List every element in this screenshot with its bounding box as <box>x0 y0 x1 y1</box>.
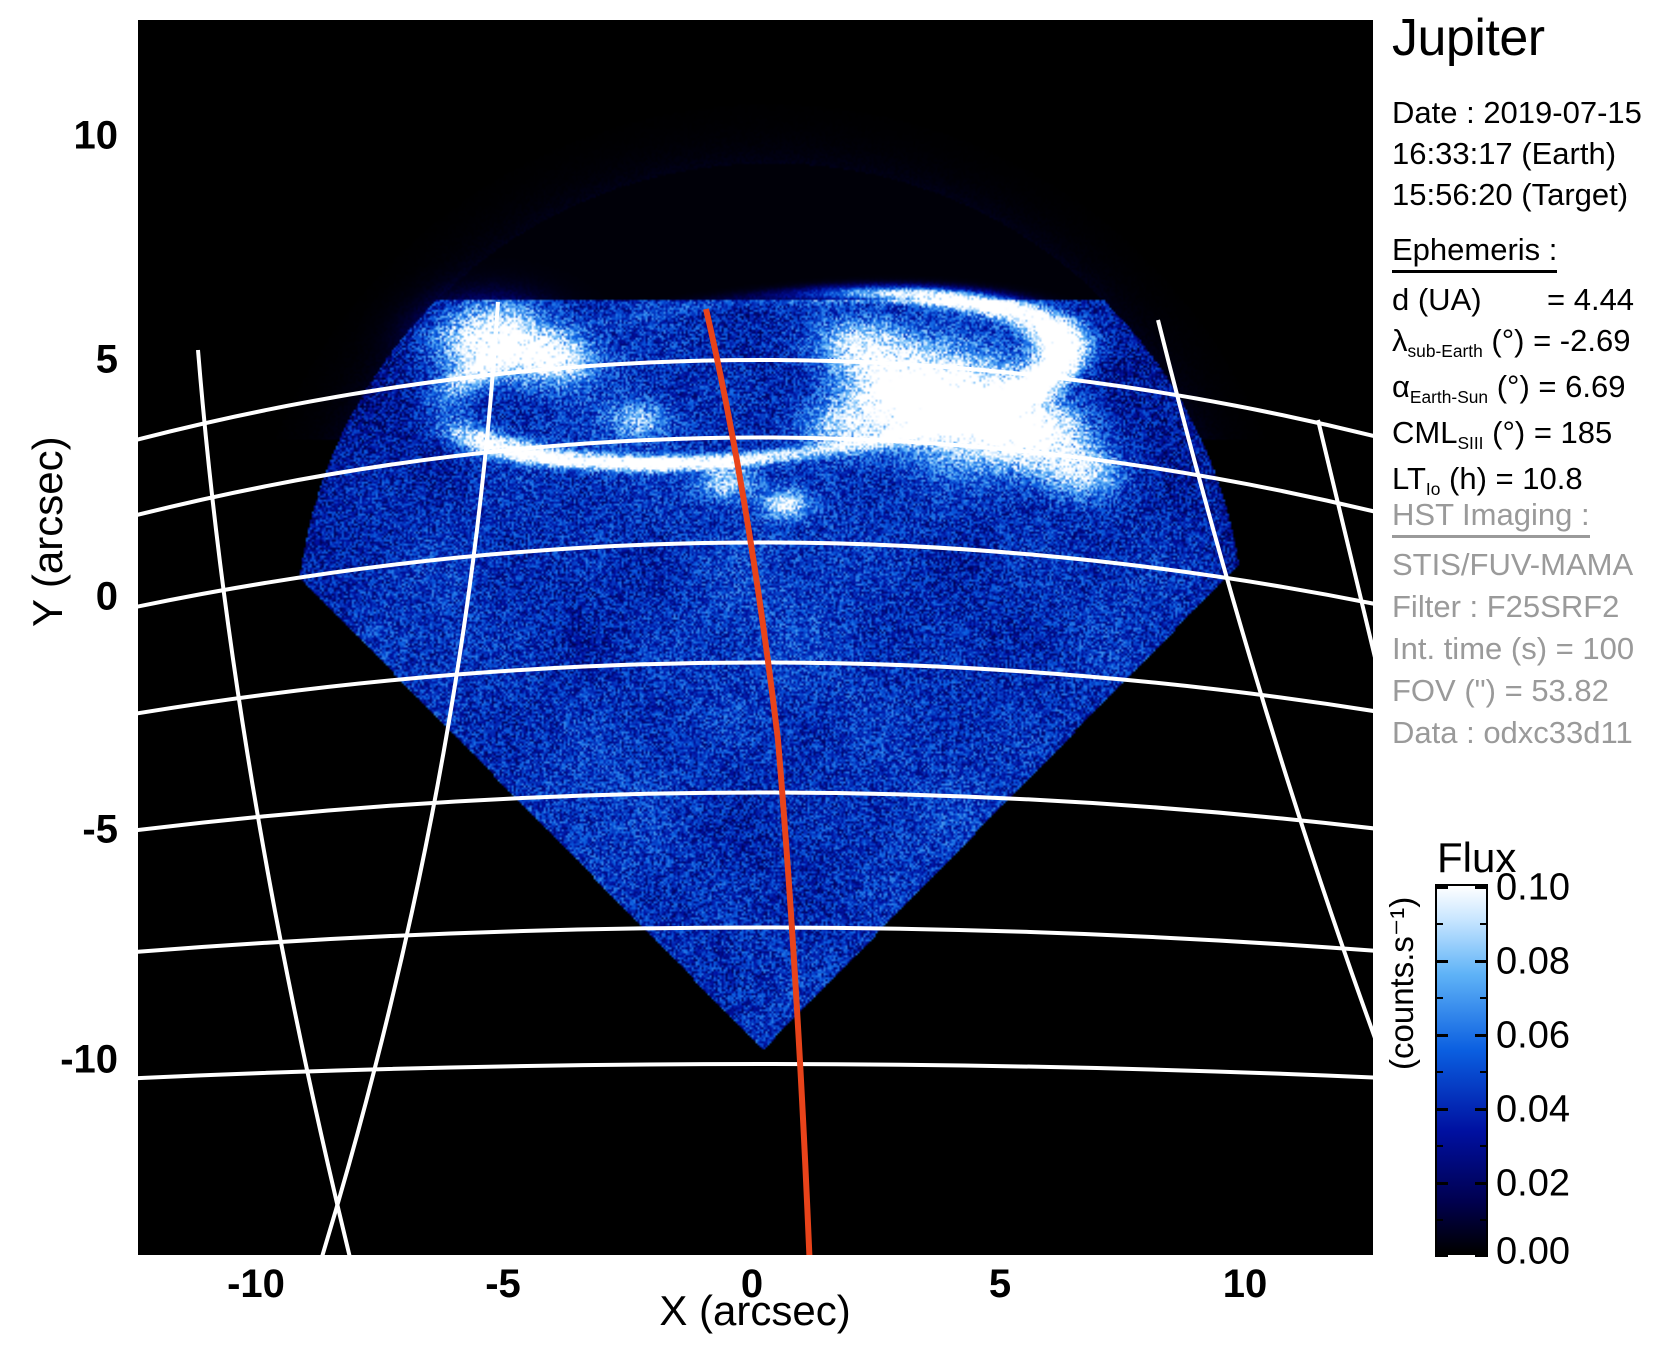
longitude-meridians <box>198 302 1373 1255</box>
colorbar-axis-label: (counts.s⁻¹) <box>1382 897 1421 1070</box>
ephemeris-row-distance: d (UA)= 4.44 <box>1392 279 1634 320</box>
x-tick-label: -10 <box>227 1262 285 1307</box>
x-axis-title: X (arcsec) <box>659 1287 850 1335</box>
y-axis-title: Y (arcsec) <box>24 436 72 627</box>
hst-field-of-view: FOV (") = 53.82 <box>1392 670 1634 712</box>
hst-instrument: STIS/FUV-MAMA <box>1392 544 1634 586</box>
ephemeris-key: LT <box>1392 458 1426 499</box>
ephemeris-key: CML <box>1392 412 1457 453</box>
ephemeris-unit: (°) <box>1491 323 1524 358</box>
y-tick-label: -5 <box>82 808 118 853</box>
colorbar-tick-label: 0.02 <box>1496 1163 1570 1206</box>
colorbar-tick-label: 0.08 <box>1496 941 1570 984</box>
hst-imaging-block: HST Imaging : STIS/FUV-MAMA Filter : F25… <box>1392 497 1634 754</box>
x-tick-label: 5 <box>989 1262 1011 1307</box>
latitude-parallels <box>138 360 1373 1080</box>
ephemeris-unit: (h) <box>1449 461 1487 496</box>
ephemeris-unit: (°) <box>1492 415 1525 450</box>
ephemeris-row-cml: CMLSIII (°) = 185 <box>1392 412 1634 458</box>
plot-image-frame <box>138 20 1373 1255</box>
colorbar-tick-label: 0.06 <box>1496 1015 1570 1058</box>
y-tick-label: -10 <box>60 1038 118 1083</box>
hst-integration-time: Int. time (s) = 100 <box>1392 628 1634 670</box>
colorbar-tick-label: 0.04 <box>1496 1089 1570 1132</box>
flux-colorbar <box>1435 884 1488 1255</box>
ephemeris-subscript: Io <box>1426 479 1440 499</box>
ephemeris-key: α <box>1392 366 1410 407</box>
ephemeris-value: = 4.44 <box>1547 282 1634 317</box>
colorbar-tick-label: 0.10 <box>1496 867 1570 910</box>
ephemeris-subscript: Earth-Sun <box>1410 387 1488 407</box>
date-line-target-time: 15:56:20 (Target) <box>1392 177 1628 212</box>
date-line-earth-time: 16:33:17 (Earth) <box>1392 136 1616 171</box>
graticule-overlay <box>138 20 1373 1255</box>
hst-filter: Filter : F25SRF2 <box>1392 586 1634 628</box>
ephemeris-subscript: SIII <box>1457 433 1483 453</box>
ephemeris-row-sub-earth-latitude: λsub-Earth (°) = -2.69 <box>1392 320 1634 366</box>
hst-dataset-id: Data : odxc33d11 <box>1392 712 1634 754</box>
target-title: Jupiter <box>1392 8 1545 68</box>
date-line-earth-date: Date : 2019-07-15 <box>1392 95 1642 130</box>
ephemeris-value: = 185 <box>1534 415 1612 450</box>
ephemeris-subscript: sub-Earth <box>1408 341 1483 361</box>
x-tick-label: -5 <box>485 1262 521 1307</box>
ephemeris-heading: Ephemeris : <box>1392 232 1557 273</box>
y-tick-label: 10 <box>74 114 119 159</box>
x-tick-label: 10 <box>1223 1262 1268 1307</box>
ephemeris-block: Ephemeris : d (UA)= 4.44 λsub-Earth (°) … <box>1392 232 1634 504</box>
ephemeris-unit: (°) <box>1497 369 1530 404</box>
ephemeris-value: = -2.69 <box>1533 323 1630 358</box>
ephemeris-key: d (UA) <box>1392 279 1547 320</box>
io-footprint-track <box>706 309 810 1255</box>
y-tick-label: 5 <box>96 338 118 383</box>
colorbar-tick-label: 0.00 <box>1496 1231 1570 1274</box>
ephemeris-value: = 10.8 <box>1496 461 1583 496</box>
observation-date-block: Date : 2019-07-15 16:33:17 (Earth) 15:56… <box>1392 92 1642 215</box>
hst-imaging-heading: HST Imaging : <box>1392 497 1590 538</box>
ephemeris-value: = 6.69 <box>1538 369 1625 404</box>
y-tick-label: 0 <box>96 575 118 620</box>
ephemeris-key: λ <box>1392 320 1408 361</box>
ephemeris-row-phase-angle: αEarth-Sun (°) = 6.69 <box>1392 366 1634 412</box>
